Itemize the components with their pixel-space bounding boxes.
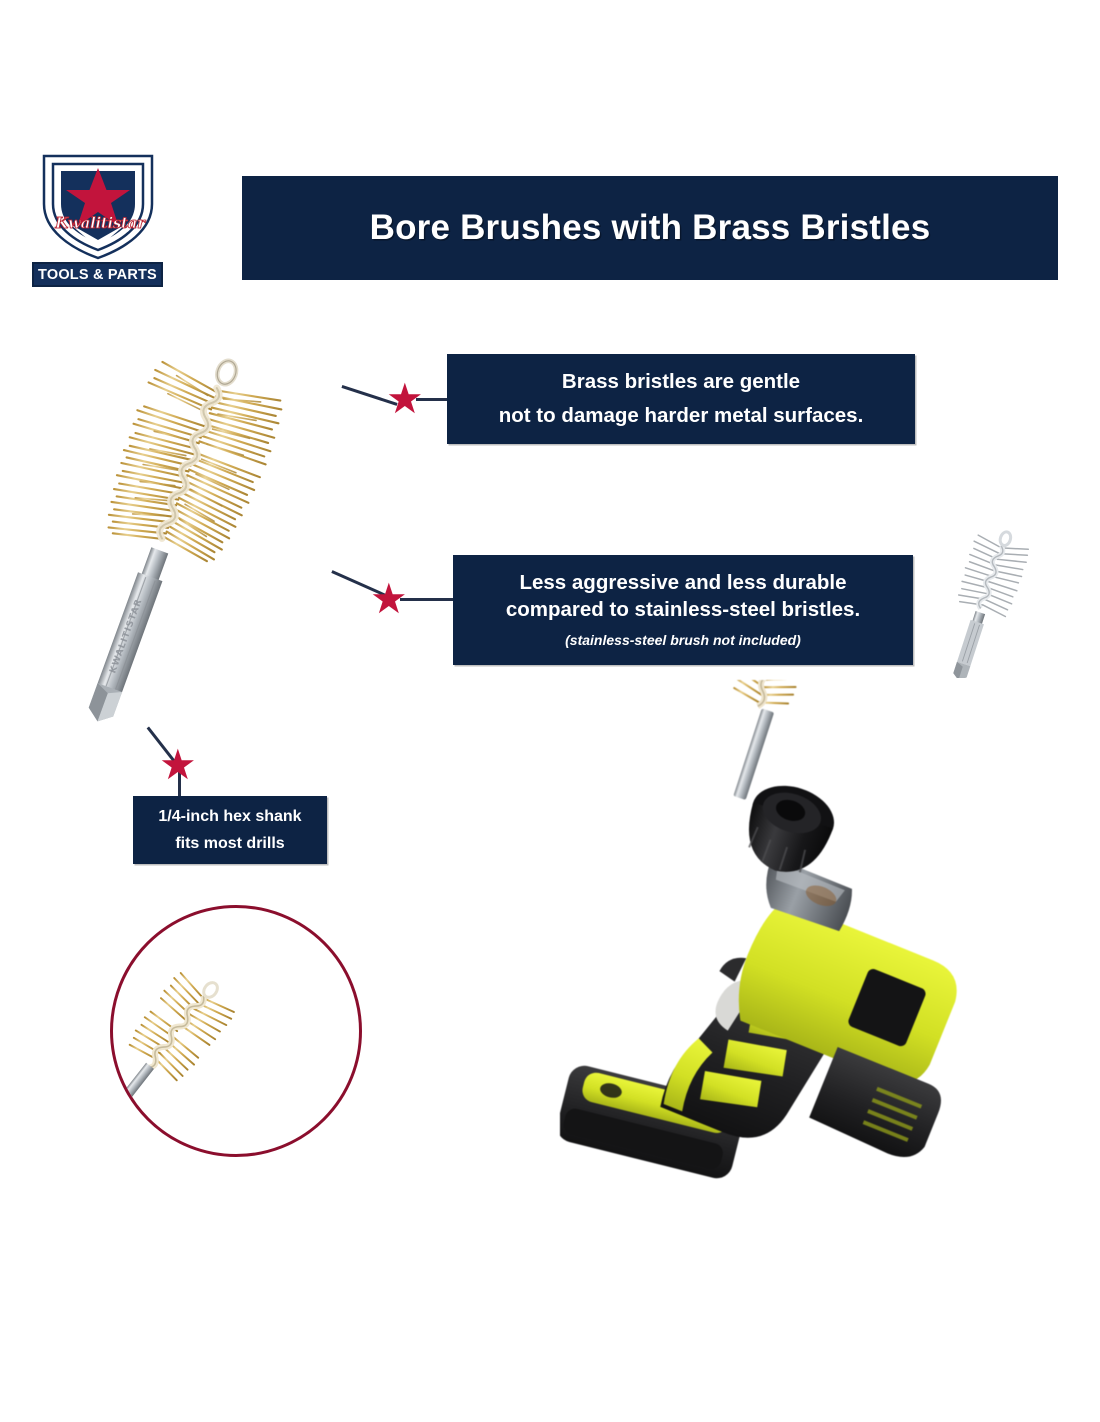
callout-2-note: (stainless-steel brush not included) (565, 632, 801, 648)
shield-star-icon (40, 152, 156, 260)
callout-3-line-2: fits most drills (175, 836, 284, 852)
callout-2-line-1: Less aggressive and less durable (519, 573, 846, 594)
cordless-drill-image (560, 680, 1030, 1240)
callout-2-line-2: compared to stainless-steel bristles. (506, 600, 860, 621)
callout-2-star-icon: ★ (370, 578, 408, 620)
callout-less-aggressive: Less aggressive and less durable compare… (453, 555, 913, 665)
callout-1-star-icon: ★ (386, 378, 424, 420)
page-title-banner: Bore Brushes with Brass Bristles (242, 176, 1058, 280)
brass-bore-brush-image: KWALITISTAR (70, 355, 350, 775)
callout-hex-shank: 1/4-inch hex shank fits most drills (133, 796, 327, 864)
logo-tagline: TOOLS & PARTS (32, 262, 163, 287)
callout-3-star-icon: ★ (159, 744, 197, 786)
callout-1-line-1: Brass bristles are gentle (562, 372, 800, 393)
callout-2-connector (400, 598, 456, 601)
callout-3-line-1: 1/4-inch hex shank (158, 809, 301, 825)
page-title: Bore Brushes with Brass Bristles (370, 208, 931, 248)
callout-1-line-2: not to damage harder metal surfaces. (499, 406, 864, 427)
brand-logo: Kwalitistar TOOLS & PARTS (22, 152, 172, 297)
stainless-steel-brush-image (940, 528, 1060, 678)
callout-brass-gentle: Brass bristles are gentle not to damage … (447, 354, 915, 444)
circle-inset-frame (110, 905, 362, 1157)
brush-in-chuck-image (113, 908, 362, 1157)
